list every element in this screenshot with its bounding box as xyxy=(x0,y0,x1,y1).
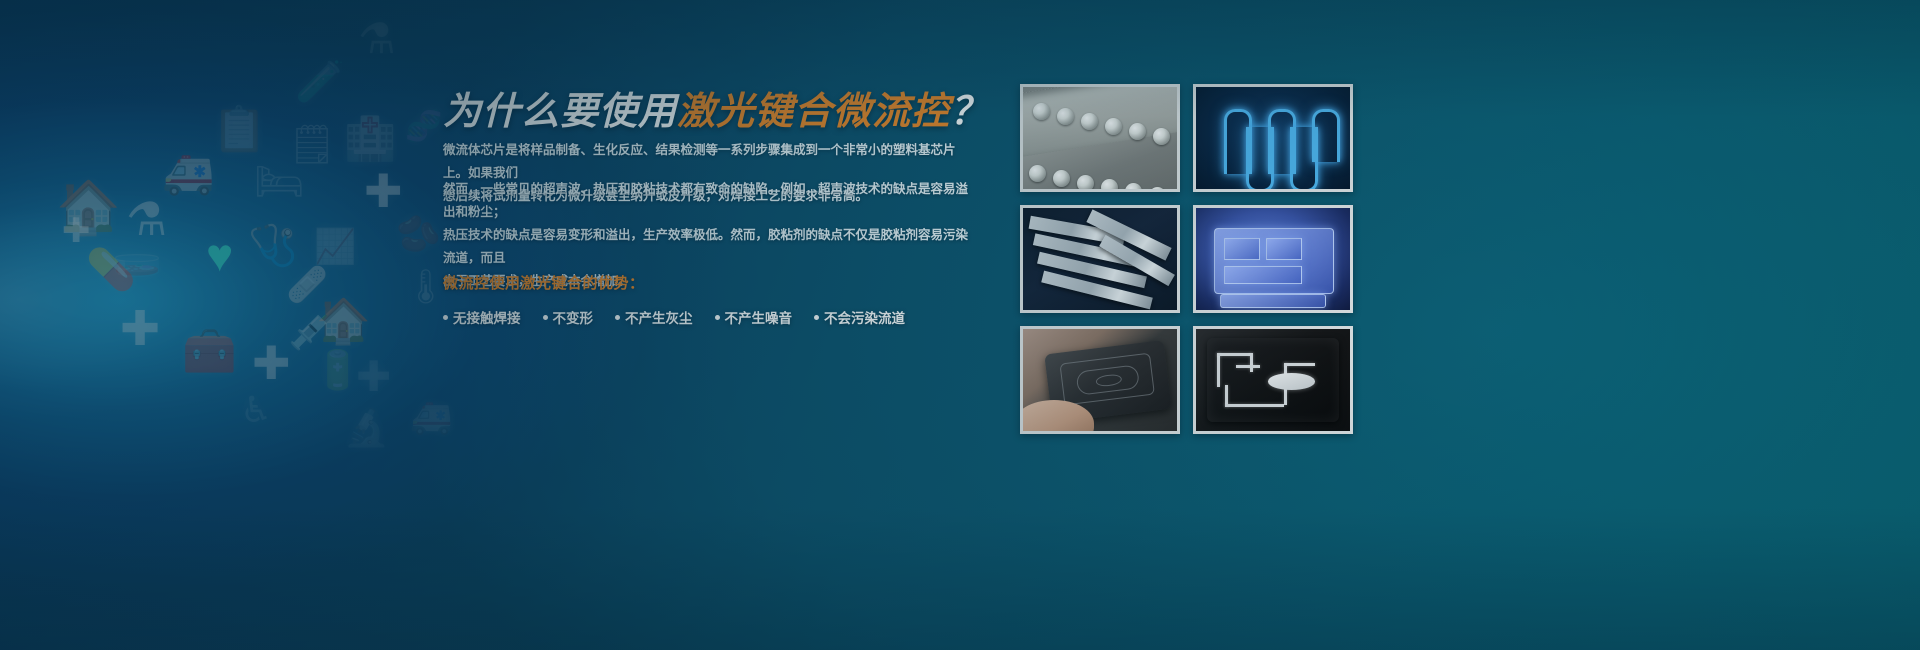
pill-icon: 💊 xyxy=(86,250,136,290)
advantage-item-5: 不会污染流道 xyxy=(814,307,905,327)
thermometer-icon: 🌡 xyxy=(404,270,447,304)
text-column: 为什么要使用激光键合微流控？ 微流体芯片是将样品制备、生化反应、结果检测等一系列… xyxy=(443,0,988,650)
paragraph-2-line-1: 然而，一些常见的超声波、热压和胶粘技术都有致命的缺陷。例如，超声波技术的缺点是容… xyxy=(443,178,973,224)
syringe-icon: 💉 xyxy=(288,312,335,350)
ambulance-icon: 🚑 xyxy=(162,152,214,194)
medical-cross-icon: ✚ xyxy=(356,356,391,398)
advantage-item-3: 不产生灰尘 xyxy=(615,307,693,327)
advantage-item-4: 不产生噪音 xyxy=(715,307,793,327)
wheelchair-icon: ♿ xyxy=(240,392,272,428)
headline-white-part: 为什么要使用 xyxy=(443,91,677,133)
stethoscope-icon: 🩺 xyxy=(248,226,298,266)
medical-cross-icon: ✚ xyxy=(120,306,160,354)
advantage-label: 无接触焊接 xyxy=(453,307,521,327)
bullet-dot-icon xyxy=(814,315,819,320)
hospital-bed-icon: 🛏 xyxy=(254,162,305,202)
advantage-item-2: 不变形 xyxy=(543,307,594,327)
paragraph-2-line-2: 热压技术的缺点是容易变形和溢出，生产效率极低。然而，胶粘剂的缺点不仅是胶粘剂容易… xyxy=(443,224,973,270)
bandage-icon: 🩹 xyxy=(286,268,328,302)
medical-cross-icon: ✚ xyxy=(62,214,91,248)
advantage-label: 不产生灰尘 xyxy=(625,307,693,327)
decorative-icon-field: ⚗ 🧬 🧪 📋 🏥 🗒 🚑 🛏 ✚ 🏠 ⚗ ✚ 🧫 ♥ 🩺 📈 🫘 💊 🩹 🌡 … xyxy=(0,0,470,650)
handheld-flexible-chip-photo[interactable] xyxy=(1020,326,1180,434)
dna-icon: 🧬 xyxy=(405,112,442,142)
advantage-item-1: 无接触焊接 xyxy=(443,307,521,327)
headline-orange-part: 激光键合微流控 xyxy=(677,91,950,133)
microscope-icon: 🔬 xyxy=(344,410,389,446)
advantages-subheading: 微流控使用激光键合的优势： xyxy=(443,272,645,293)
bullet-dot-icon xyxy=(715,315,720,320)
first-aid-kit-icon: 🧰 xyxy=(182,330,237,374)
bullet-dot-icon xyxy=(543,315,548,320)
advantage-label: 不产生噪音 xyxy=(725,307,793,327)
clipboard-icon: 📋 xyxy=(212,108,267,152)
advantage-label: 不会污染流道 xyxy=(824,307,905,327)
medical-cross-icon: ✚ xyxy=(364,168,403,214)
medical-cross-icon: ✚ xyxy=(252,340,291,386)
transparent-manifold-chip-photo[interactable] xyxy=(1193,205,1353,313)
bullet-dot-icon xyxy=(443,315,448,320)
microfluidic-chip-wells-photo[interactable] xyxy=(1020,84,1180,192)
heart-icon: ♥ xyxy=(206,232,233,278)
flask-icon: ⚗ xyxy=(358,18,396,60)
hospital-icon: 🏥 xyxy=(344,118,396,160)
document-icon: 🗒 xyxy=(288,126,336,164)
advantages-list: 无接触焊接 不变形 不产生灰尘 不产生噪音 不会污染流道 xyxy=(443,307,983,327)
product-photo-gallery xyxy=(1020,84,1353,434)
kidney-icon: 🫘 xyxy=(396,216,441,252)
heartbeat-icon: 📈 xyxy=(314,230,356,264)
flask-fill-icon: ⚗ xyxy=(126,196,167,242)
home-medical-icon: 🏠 xyxy=(316,300,371,344)
banner-root: ⚗ 🧬 🧪 📋 🏥 🗒 🚑 🛏 ✚ 🏠 ⚗ ✚ 🧫 ♥ 🩺 📈 🫘 💊 🩹 🌡 … xyxy=(0,0,1920,650)
test-tube-icon: 🧪 xyxy=(295,62,345,102)
black-chip-channel-network-photo[interactable] xyxy=(1193,326,1353,434)
serpentine-channel-chip-photo[interactable] xyxy=(1193,84,1353,192)
test-tube-rack-icon: 🧫 xyxy=(112,236,162,276)
chip-slides-array-photo[interactable] xyxy=(1020,205,1180,313)
headline-question-mark: ？ xyxy=(950,91,989,133)
battery-icon: 🔋 xyxy=(314,352,361,390)
advantage-label: 不变形 xyxy=(553,307,594,327)
page-title: 为什么要使用激光键合微流控？ xyxy=(443,80,1003,135)
bullet-dot-icon xyxy=(615,315,620,320)
home-medical-icon: 🏠 xyxy=(56,182,121,234)
